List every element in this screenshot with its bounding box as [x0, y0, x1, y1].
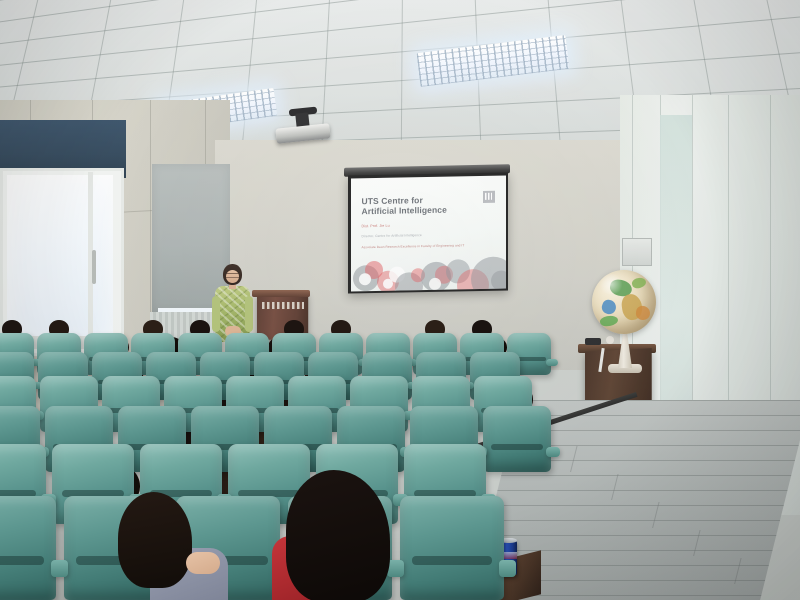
auditorium-seat[interactable]	[400, 496, 504, 600]
floor-plank-line	[501, 475, 791, 476]
floor-plank-line	[482, 550, 772, 551]
ceiling-tile-line	[0, 0, 800, 70]
uts-logo-icon	[483, 190, 495, 202]
desk-cup	[606, 336, 614, 344]
world-globe-icon	[592, 270, 656, 334]
floor-plank-joint	[693, 530, 700, 556]
floor-plank-line	[490, 520, 780, 521]
slide-bubble	[383, 278, 393, 288]
auditorium-seat[interactable]	[483, 406, 551, 472]
floor-plank-line	[512, 430, 800, 431]
globe-landmass	[631, 276, 647, 289]
light-louver-grille	[416, 35, 569, 87]
presenter-right-arm	[245, 296, 253, 332]
slide-title: UTS Centre for Artificial Intelligence	[362, 194, 472, 217]
projection-screen: UTS Centre for Artificial Intelligence D…	[348, 172, 508, 293]
globe-highlight	[598, 274, 624, 294]
slide-role-line: Director, Centre for Artificial Intellig…	[362, 233, 422, 238]
slide-bubble	[491, 270, 506, 290]
seat-armrest	[499, 560, 516, 577]
auditorium-seat[interactable]	[0, 496, 56, 600]
lecture-hall-photo: UTS Centre for Artificial Intelligence D…	[0, 0, 800, 600]
wall-mounted-panel	[622, 238, 652, 266]
woman-with-smartphone-hair	[118, 492, 192, 588]
floor-plank-line	[494, 505, 784, 506]
presenter-left-arm	[212, 296, 220, 332]
floor-plank-line	[520, 400, 800, 401]
desk-device	[585, 338, 601, 345]
slide-bubble	[429, 277, 441, 289]
floor-plank-joint	[611, 474, 618, 500]
slide-bubble	[359, 273, 371, 285]
ceiling-tile-line	[0, 0, 800, 49]
seat-armrest	[546, 447, 560, 458]
slide-title-line2: Artificial Intelligence	[362, 204, 472, 217]
lectern-nameplate	[262, 302, 304, 309]
eyeglasses-icon	[226, 273, 239, 278]
lectern-top	[252, 290, 310, 297]
ceiling-light-fixture	[416, 35, 569, 87]
seat-armrest	[546, 359, 558, 366]
floor-plank-joint	[570, 446, 577, 472]
slide-surface: UTS Centre for Artificial Intelligence D…	[351, 175, 506, 291]
floor-plank-line	[509, 445, 799, 446]
seat-armrest	[51, 560, 68, 577]
globe-landmass	[600, 298, 618, 316]
globe-landmass	[635, 305, 650, 320]
floor-plank-line	[497, 490, 787, 491]
globe-landmass	[599, 315, 618, 328]
ceiling-tile-line	[0, 0, 800, 28]
slide-presenter-name: Dist. Prof. Jie Lu	[362, 223, 390, 228]
woman-with-smartphone-arm	[186, 552, 220, 574]
floor-plank-line	[486, 535, 776, 536]
window-handle[interactable]	[92, 250, 96, 284]
